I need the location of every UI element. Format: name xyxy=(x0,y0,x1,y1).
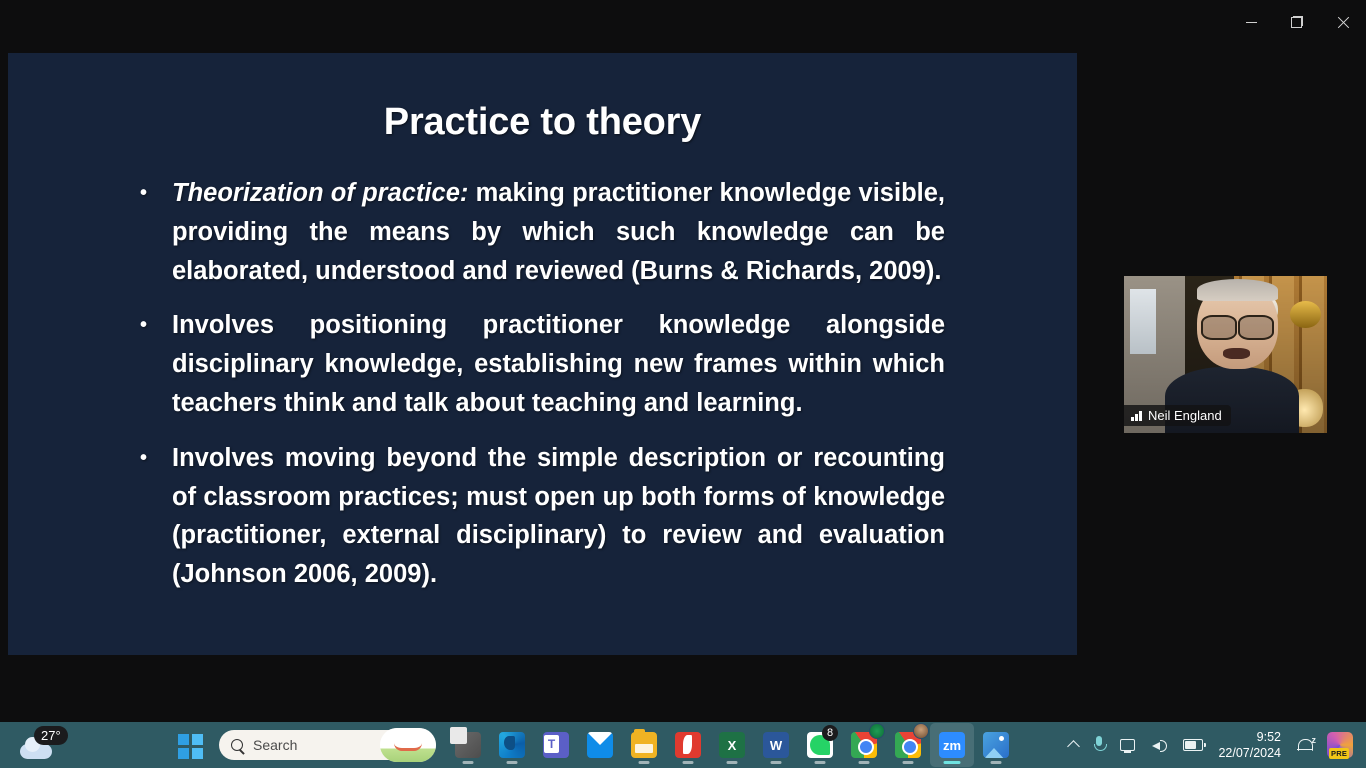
copilot-icon: PRE xyxy=(1327,732,1353,758)
taskbar-item-mail[interactable] xyxy=(578,723,622,767)
participant-video-tile[interactable]: Neil England xyxy=(1124,276,1327,433)
bullet-item: Involves moving beyond the simple descri… xyxy=(132,439,945,594)
volume-button[interactable] xyxy=(1145,725,1176,765)
taskbar: 27° X xyxy=(0,722,1366,768)
windows-logo-icon xyxy=(192,734,203,745)
mail-icon xyxy=(587,732,613,758)
dnd-z-icon: z xyxy=(1312,735,1317,745)
running-indicator xyxy=(683,761,694,764)
running-indicator xyxy=(991,761,1002,764)
video-background-window xyxy=(1130,289,1156,355)
window-controls xyxy=(1220,0,1366,44)
speaker-icon xyxy=(1152,738,1169,753)
network-icon xyxy=(1120,738,1138,753)
zoom-icon: zm xyxy=(939,732,965,758)
taskbar-item-chrome-2[interactable] xyxy=(886,723,930,767)
signal-bars-icon xyxy=(1131,410,1142,421)
windows-logo-icon xyxy=(178,734,189,745)
bullet-lead: Theorization of practice: xyxy=(172,179,468,207)
restore-button[interactable] xyxy=(1274,0,1320,44)
battery-button[interactable] xyxy=(1176,725,1210,765)
slide-title: Practice to theory xyxy=(8,101,1077,144)
copilot-pre-badge: PRE xyxy=(1329,748,1349,759)
slide-bullet-list: Theorization of practice: making practit… xyxy=(8,174,1077,594)
taskbar-item-word[interactable]: W xyxy=(754,723,798,767)
clock-button[interactable]: 9:52 22/07/2024 xyxy=(1210,729,1289,761)
weather-widget[interactable]: 27° xyxy=(14,726,76,766)
search-placeholder: Search xyxy=(253,737,297,753)
close-button[interactable] xyxy=(1320,0,1366,44)
presentation-slide[interactable]: Practice to theory Theorization of pract… xyxy=(8,53,1077,655)
taskbar-item-task-view[interactable] xyxy=(446,723,490,767)
chevron-up-icon xyxy=(1068,740,1081,753)
running-indicator xyxy=(859,761,870,764)
microphone-icon xyxy=(1092,736,1106,754)
taskbar-item-edge[interactable] xyxy=(490,723,534,767)
bullet-text: Involves moving beyond the simple descri… xyxy=(172,444,945,588)
tray-overflow-button[interactable] xyxy=(1062,725,1085,765)
photos-icon xyxy=(983,732,1009,758)
running-indicator xyxy=(463,761,474,764)
battery-icon xyxy=(1183,739,1203,751)
taskbar-item-whatsapp[interactable]: 8 xyxy=(798,723,842,767)
hammock-icon xyxy=(394,743,422,751)
minimize-icon xyxy=(1246,22,1257,23)
participant-name: Neil England xyxy=(1148,408,1222,423)
running-indicator xyxy=(639,761,650,764)
pdf-reader-icon xyxy=(675,732,701,758)
active-indicator xyxy=(944,761,961,764)
cloud-icon xyxy=(20,744,52,759)
bullet-item: Theorization of practice: making practit… xyxy=(132,174,945,290)
bullet-text: Involves positioning practitioner knowle… xyxy=(172,311,945,417)
search-icon xyxy=(231,739,244,752)
taskbar-item-excel[interactable]: X xyxy=(710,723,754,767)
participant-mouth xyxy=(1223,348,1249,359)
running-indicator xyxy=(727,761,738,764)
running-indicator xyxy=(507,761,518,764)
bell-dnd-icon: z xyxy=(1296,737,1313,754)
glasses-icon xyxy=(1201,315,1274,335)
restore-icon xyxy=(1291,16,1303,28)
bullet-item: Involves positioning practitioner knowle… xyxy=(132,306,945,422)
notification-badge: 8 xyxy=(822,725,838,741)
teams-icon xyxy=(543,732,569,758)
running-indicator xyxy=(771,761,782,764)
taskbar-app-icons: X W 8 zm xyxy=(446,722,1018,768)
excel-icon: X xyxy=(719,732,745,758)
weather-temperature: 27° xyxy=(34,726,68,745)
windows-logo-icon xyxy=(178,748,189,759)
profile-avatar-icon xyxy=(913,723,929,739)
participant-hair xyxy=(1197,279,1278,301)
hammock-widget[interactable] xyxy=(380,728,436,762)
taskbar-item-file-explorer[interactable] xyxy=(622,723,666,767)
taskbar-item-teams[interactable] xyxy=(534,723,578,767)
edge-icon xyxy=(499,732,525,758)
copilot-button[interactable]: PRE xyxy=(1320,725,1360,765)
taskbar-item-zoom[interactable]: zm xyxy=(930,723,974,767)
close-icon xyxy=(1337,16,1350,29)
minimize-button[interactable] xyxy=(1228,0,1274,44)
taskbar-item-photos[interactable] xyxy=(974,723,1018,767)
start-button[interactable] xyxy=(178,734,204,760)
word-icon: W xyxy=(763,732,789,758)
running-indicator xyxy=(903,761,914,764)
clock-time: 9:52 xyxy=(1257,729,1281,745)
participant-name-label: Neil England xyxy=(1124,405,1231,426)
microphone-button[interactable] xyxy=(1085,725,1113,765)
taskbar-item-chrome-1[interactable] xyxy=(842,723,886,767)
system-tray: 9:52 22/07/2024 z PRE xyxy=(1062,722,1366,768)
profile-badge-icon xyxy=(869,723,885,739)
windows-logo-icon xyxy=(192,748,203,759)
task-view-icon xyxy=(455,732,481,758)
file-explorer-icon xyxy=(631,732,657,758)
taskbar-item-pdf-reader[interactable] xyxy=(666,723,710,767)
running-indicator xyxy=(815,761,826,764)
shelf-ornament-icon xyxy=(1290,301,1320,328)
clock-date: 22/07/2024 xyxy=(1218,745,1281,761)
notifications-button[interactable]: z xyxy=(1289,725,1320,765)
network-button[interactable] xyxy=(1113,725,1145,765)
